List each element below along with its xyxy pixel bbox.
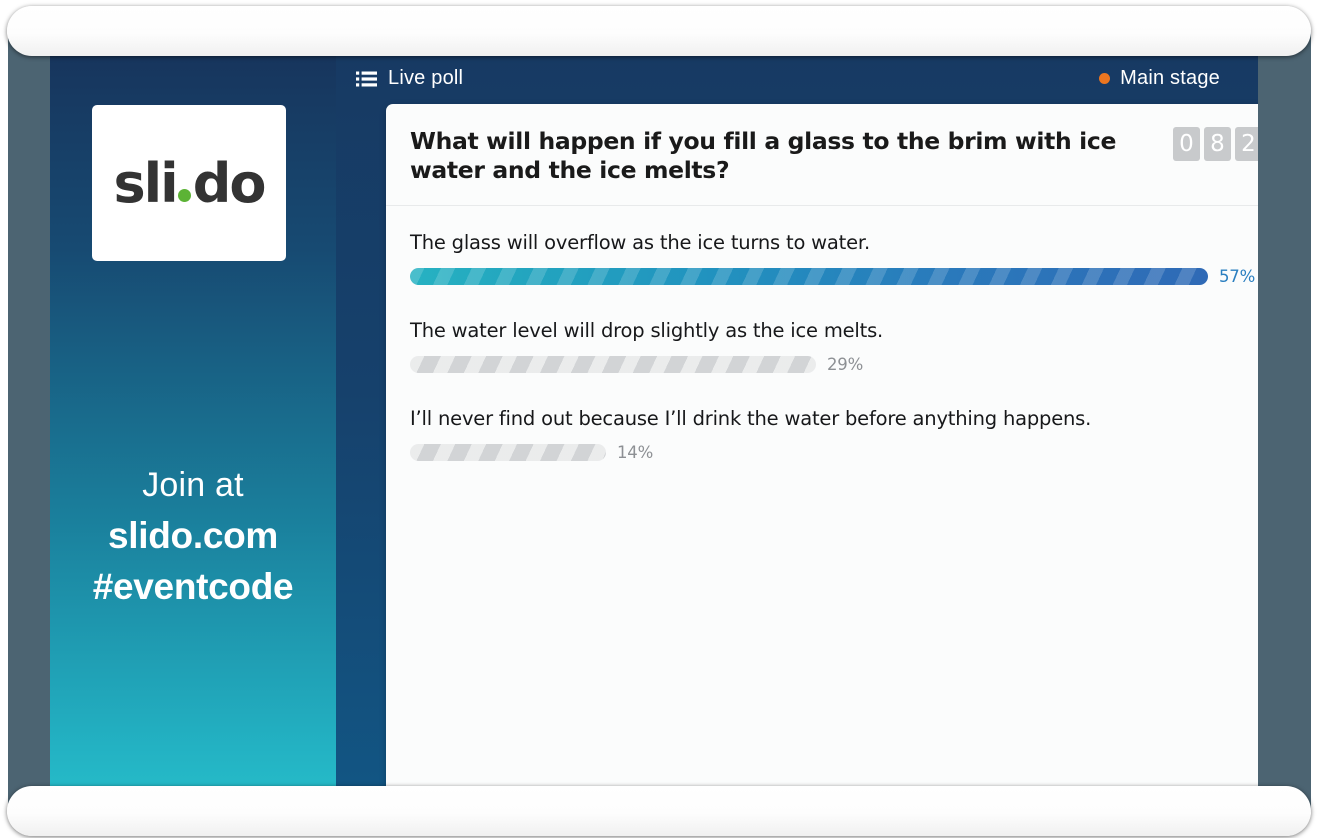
logo-text-part-1: sli bbox=[114, 152, 177, 215]
main-stage-label: Main stage bbox=[1120, 67, 1220, 90]
answer-bar bbox=[410, 444, 606, 461]
poll-panel: What will happen if you fill a glass to … bbox=[386, 104, 1258, 800]
join-at-label: Join at bbox=[50, 460, 336, 510]
answer-option: The water level will drop slightly as th… bbox=[410, 318, 1258, 374]
answer-bar-row: 29% bbox=[410, 355, 1258, 374]
counter-digit: 0 bbox=[1173, 127, 1200, 161]
answer-label: The water level will drop slightly as th… bbox=[410, 318, 1258, 344]
device-bezel-bottom bbox=[7, 786, 1311, 836]
vote-counter: 082 bbox=[1173, 127, 1258, 161]
question-header: What will happen if you fill a glass to … bbox=[386, 104, 1258, 206]
answer-option: I’ll never find out because I’ll drink t… bbox=[410, 406, 1258, 462]
answer-percent: 14% bbox=[617, 443, 653, 462]
main-area: Live poll Main stage What will happen if… bbox=[336, 55, 1258, 800]
answer-label: The glass will overflow as the ice turns… bbox=[410, 230, 1258, 256]
answer-bar-row: 57% bbox=[410, 267, 1258, 286]
answer-list: The glass will overflow as the ice turns… bbox=[386, 206, 1258, 462]
answer-option: The glass will overflow as the ice turns… bbox=[410, 230, 1258, 286]
answer-bar bbox=[410, 268, 1208, 285]
status-dot-icon bbox=[1099, 73, 1110, 84]
answer-percent: 57% bbox=[1219, 267, 1255, 286]
join-event-code: #eventcode bbox=[50, 561, 336, 612]
counter-digit: 8 bbox=[1204, 127, 1231, 161]
sidebar: sli do Join at slido.com #eventcode bbox=[50, 55, 336, 800]
slido-logo: sli do bbox=[114, 152, 265, 215]
join-url: slido.com bbox=[50, 510, 336, 561]
top-bar: Live poll Main stage bbox=[336, 55, 1258, 102]
device-bezel-top bbox=[7, 6, 1311, 56]
device-frame: sli do Join at slido.com #eventcode bbox=[0, 0, 1319, 838]
green-dot-icon bbox=[178, 189, 191, 202]
slido-logo-card: sli do bbox=[92, 105, 286, 261]
counter-digit: 2 bbox=[1235, 127, 1258, 161]
logo-text-part-2: do bbox=[193, 152, 265, 215]
poll-question: What will happen if you fill a glass to … bbox=[410, 127, 1126, 185]
join-instructions: Join at slido.com #eventcode bbox=[50, 460, 336, 612]
answer-bar-row: 14% bbox=[410, 443, 1258, 462]
list-icon bbox=[356, 71, 377, 87]
answer-percent: 29% bbox=[827, 355, 863, 374]
live-poll-header[interactable]: Live poll bbox=[356, 67, 463, 90]
main-stage-indicator[interactable]: Main stage bbox=[1099, 67, 1220, 90]
answer-label: I’ll never find out because I’ll drink t… bbox=[410, 406, 1258, 432]
live-poll-label: Live poll bbox=[388, 67, 463, 90]
screen-content: sli do Join at slido.com #eventcode bbox=[50, 55, 1258, 800]
answer-bar bbox=[410, 356, 816, 373]
